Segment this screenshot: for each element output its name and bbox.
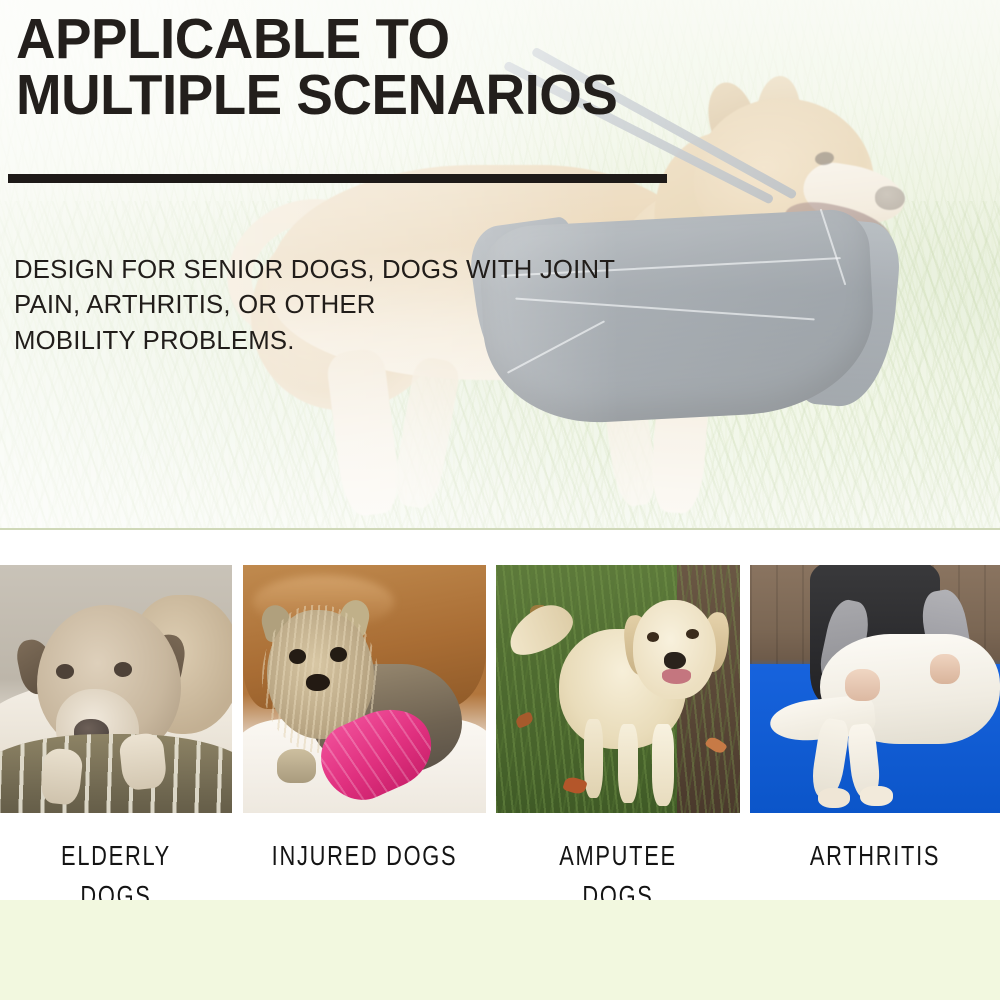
hero-bottom-divider <box>0 528 1000 530</box>
bed-pattern <box>0 734 232 813</box>
dog-eye-left <box>56 664 75 679</box>
scenario-photo-injured-dogs <box>243 565 486 813</box>
scenario-photo-strip <box>0 565 1000 813</box>
caption-arthritis: ARTHRITIS <box>778 836 973 876</box>
dog-nose <box>875 186 905 210</box>
therapist-hand-right <box>930 654 960 684</box>
photo-content <box>0 565 232 813</box>
caption-injured-dogs: INJURED DOGS <box>270 836 460 876</box>
dog-mouth <box>662 669 691 684</box>
hero-section: APPLICABLE TO MULTIPLE SCENARIOS DESIGN … <box>0 0 1000 530</box>
dog-paw <box>277 749 316 784</box>
product-infographic: APPLICABLE TO MULTIPLE SCENARIOS DESIGN … <box>0 0 1000 1000</box>
scenario-photo-elderly-dogs <box>0 565 232 813</box>
dog-eye-right <box>114 662 133 677</box>
therapist-hand-left <box>845 669 880 701</box>
dog-paw <box>818 788 851 808</box>
photo-content <box>496 565 740 813</box>
dog-paw-right <box>118 731 168 790</box>
scenario-photo-arthritis <box>750 565 1000 813</box>
page-title: APPLICABLE TO MULTIPLE SCENARIOS <box>16 12 617 124</box>
dog-leg <box>652 724 674 806</box>
photo-content <box>750 565 1000 813</box>
dog-paw <box>860 786 893 806</box>
dog-leg <box>618 724 638 803</box>
footer-color-band <box>0 900 1000 1000</box>
dog-eye-right <box>686 629 698 639</box>
dog-leg <box>584 719 604 798</box>
photo-content <box>243 565 486 813</box>
dog-head <box>633 600 716 699</box>
scenario-photo-amputee-dogs <box>496 565 740 813</box>
title-underline-rule <box>8 174 667 183</box>
hero-description: DESIGN FOR SENIOR DOGS, DOGS WITH JOINT … <box>14 252 615 358</box>
scenario-captions: ELDERLY DOGS INJURED DOGS AMPUTEE DOGS A… <box>0 836 1000 884</box>
